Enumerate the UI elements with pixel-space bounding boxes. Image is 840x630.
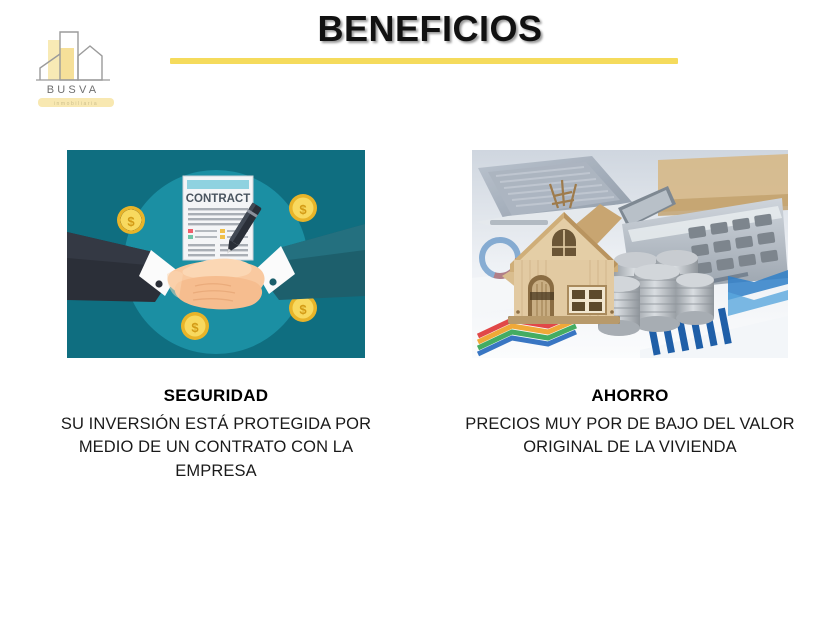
benefit-column-seguridad: $ $ $ $ xyxy=(26,150,406,483)
page-title: BENEFICIOS xyxy=(160,8,700,50)
benefit-heading-seguridad: SEGURIDAD xyxy=(26,386,406,406)
svg-text:$: $ xyxy=(299,202,307,217)
busva-logo: BUSVA inmobiliaria BUSVA inmobiliaria xyxy=(30,22,130,110)
benefit-column-ahorro: AHORRO PRECIOS MUY POR DE BAJO DEL VALOR… xyxy=(440,150,820,460)
contract-label: CONTRACT xyxy=(186,193,251,205)
svg-text:inmobiliaria: inmobiliaria xyxy=(54,101,99,107)
svg-text:$: $ xyxy=(299,302,307,317)
handshake-contract-illustration: $ $ $ $ xyxy=(67,150,365,358)
benefit-body-seguridad: SU INVERSIÓN ESTÁ PROTEGIDA POR MEDIO DE… xyxy=(26,413,406,483)
benefit-heading-ahorro: AHORRO xyxy=(440,386,820,406)
benefit-body-ahorro: PRECIOS MUY POR DE BAJO DEL VALOR ORIGIN… xyxy=(440,413,820,460)
svg-text:BUSVA: BUSVA xyxy=(47,84,99,96)
svg-text:$: $ xyxy=(191,320,199,335)
svg-text:$: $ xyxy=(127,214,135,229)
house-model-coins-calculator-photo xyxy=(472,150,788,358)
title-underline-rule xyxy=(170,58,678,64)
presentation-slide: BUSVA inmobiliaria BUSVA inmobiliaria BE… xyxy=(0,0,840,630)
